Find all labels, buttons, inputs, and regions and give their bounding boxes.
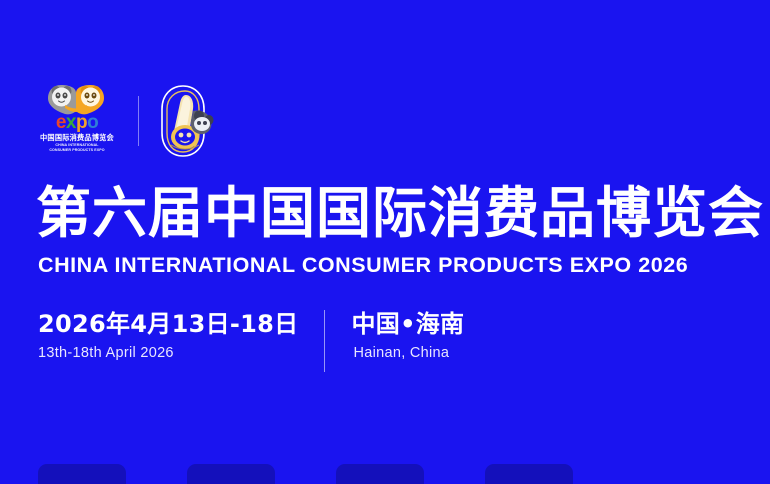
cicpe-chinese-name: 中国国际消费品博览会 bbox=[38, 133, 116, 142]
cicpe-wordmark: expo bbox=[38, 113, 116, 133]
bottom-card[interactable] bbox=[336, 464, 424, 484]
expo-banner: expo 中国国际消费品博览会 CHINA INTERNATIONAL CONS… bbox=[0, 0, 770, 484]
logo-row: expo 中国国际消费品博览会 CHINA INTERNATIONAL CONS… bbox=[38, 82, 221, 160]
page-subtitle: CHINA INTERNATIONAL CONSUMER PRODUCTS EX… bbox=[38, 252, 688, 278]
page-title: 第六届中国国际消费品博览会 bbox=[36, 182, 764, 244]
sixth-edition-emblem[interactable] bbox=[159, 83, 221, 159]
event-info-row: 2026年4月13日-18日 13th-18th April 2026 中国•海… bbox=[38, 308, 464, 374]
cicpe-english-name-2: CONSUMER PRODUCTS EXPO bbox=[38, 148, 116, 153]
wordmark-letter-o: o bbox=[87, 113, 98, 133]
bottom-card[interactable] bbox=[187, 464, 275, 484]
bottom-card[interactable] bbox=[38, 464, 126, 484]
event-location-block: 中国•海南 Hainan, China bbox=[351, 308, 464, 374]
event-date-chinese: 2026年4月13日-18日 bbox=[38, 308, 298, 340]
event-location-english: Hainan, China bbox=[351, 342, 464, 364]
event-location-chinese: 中国•海南 bbox=[351, 308, 464, 340]
wordmark-letter-p: p bbox=[76, 113, 87, 133]
info-divider bbox=[324, 310, 325, 372]
wordmark-letter-e: e bbox=[56, 113, 66, 133]
event-date-english: 13th-18th April 2026 bbox=[38, 342, 298, 364]
bottom-card-strip bbox=[0, 458, 770, 484]
bottom-card[interactable] bbox=[485, 464, 573, 484]
logo-divider bbox=[138, 96, 139, 146]
two-panda-heart-icon bbox=[46, 83, 106, 115]
cicpe-expo-logo[interactable]: expo 中国国际消费品博览会 CHINA INTERNATIONAL CONS… bbox=[38, 83, 116, 159]
event-date-block: 2026年4月13日-18日 13th-18th April 2026 bbox=[38, 308, 298, 374]
wordmark-letter-x: x bbox=[66, 113, 76, 133]
cicpe-english-name: CHINA INTERNATIONAL bbox=[38, 143, 116, 148]
gold-numeral-six-icon bbox=[159, 83, 221, 159]
